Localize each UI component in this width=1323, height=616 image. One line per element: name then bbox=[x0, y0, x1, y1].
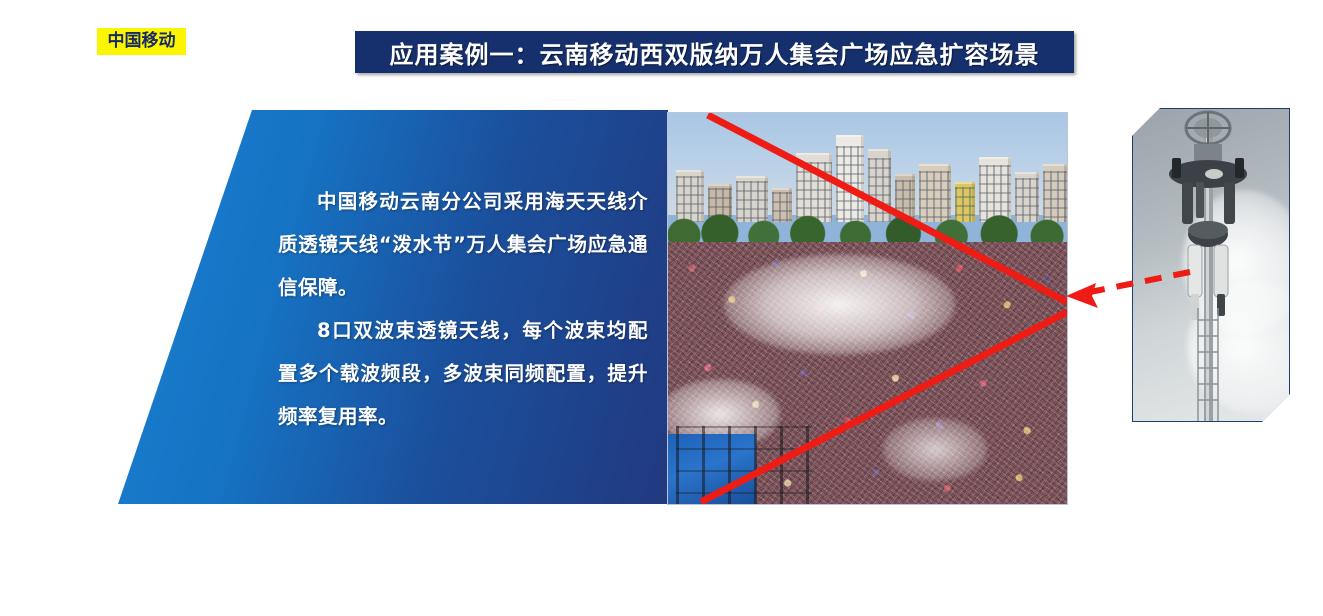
beam-line-upper bbox=[708, 115, 1067, 302]
connector-arrowhead-icon bbox=[1066, 283, 1098, 308]
beam-line-lower bbox=[701, 312, 1067, 502]
description-text-block: 中国移动云南分公司采用海天天线介质透镜天线“泼水节”万人集会广场应急通信保障。 … bbox=[278, 180, 648, 438]
tower-mast-illustration bbox=[1132, 108, 1290, 422]
content-group: 中国移动云南分公司采用海天天线介质透镜天线“泼水节”万人集会广场应急通信保障。 … bbox=[0, 0, 1323, 616]
slide-canvas: 中国移动 应用案例一：云南移动西双版纳万人集会广场应急扩容场景 中国移动云南分公… bbox=[0, 0, 1323, 616]
description-paragraph-2: 8口双波束透镜天线，每个波束均配置多个载波频段，多波束同频配置，提升频率复用率。 bbox=[278, 309, 648, 438]
beam-coverage-overlay bbox=[668, 113, 1067, 504]
description-panel: 中国移动云南分公司采用海天天线介质透镜天线“泼水节”万人集会广场应急通信保障。 … bbox=[118, 110, 668, 504]
description-paragraph-1: 中国移动云南分公司采用海天天线介质透镜天线“泼水节”万人集会广场应急通信保障。 bbox=[278, 180, 648, 309]
crowd-square-photo bbox=[667, 112, 1068, 505]
antenna-tower-photo bbox=[1132, 108, 1290, 422]
